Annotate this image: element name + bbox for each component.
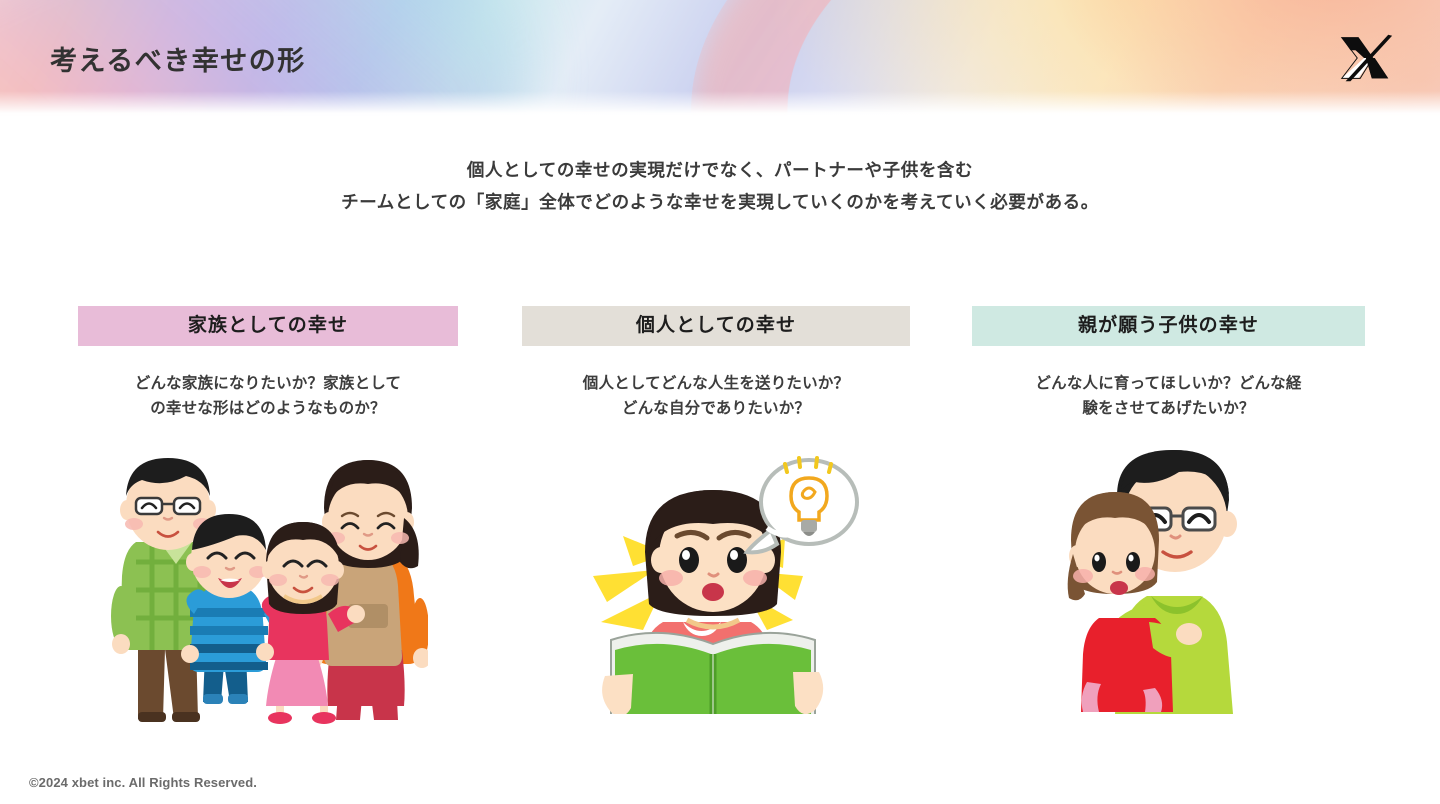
- column-1-desc-line-1: どんな家族になりたいか？家族として: [78, 371, 458, 396]
- slide-root: 考えるべき幸せの形 個人としての幸せの実現だけでなく、パートナーや子供を含む チ…: [0, 0, 1440, 804]
- column-3-desc-line-1: どんな人に育ってほしいか？どんな経: [972, 371, 1365, 396]
- woman-reading-book-with-idea-illustration: [571, 444, 861, 714]
- column-1-description: どんな家族になりたいか？家族として の幸せな形はどのようなものか？: [78, 371, 458, 421]
- header-bottom-fade: [0, 91, 1440, 117]
- column-3-desc-line-2: 験をさせてあげたいか？: [972, 396, 1365, 421]
- column-2-desc-line-2: どんな自分でありたいか？: [522, 396, 910, 421]
- column-parent-wish-happiness: 親が願う子供の幸せ どんな人に育ってほしいか？どんな経 験をさせてあげたいか？: [972, 306, 1365, 421]
- column-3-band-label: 親が願う子供の幸せ: [972, 306, 1365, 346]
- lead-line-2: チームとしての「家庭」全体でどのような幸せを実現していくのかを考えていく必要があ…: [0, 187, 1440, 219]
- column-2-band-label: 個人としての幸せ: [522, 306, 910, 346]
- column-3-illustration-wrap: [972, 444, 1365, 744]
- column-1-desc-line-2: の幸せな形はどのようなものか？: [78, 396, 458, 421]
- father-holding-child-illustration: [1043, 444, 1295, 714]
- column-2-description: 個人としてどんな人生を送りたいか？ どんな自分でありたいか？: [522, 371, 910, 421]
- idea-speech-bubble: [747, 458, 857, 552]
- page-title: 考えるべき幸せの形: [50, 39, 306, 78]
- slide-header: 考えるべき幸せの形: [0, 0, 1440, 117]
- lead-line-1: 個人としての幸せの実現だけでなく、パートナーや子供を含む: [0, 155, 1440, 187]
- happiness-columns: 家族としての幸せ どんな家族になりたいか？家族として の幸せな形はどのようなもの…: [0, 306, 1440, 766]
- family-of-four-illustration: [108, 444, 428, 734]
- column-3-description: どんな人に育ってほしいか？どんな経 験をさせてあげたいか？: [972, 371, 1365, 421]
- column-individual-happiness: 個人としての幸せ 個人としてどんな人生を送りたいか？ どんな自分でありたいか？: [522, 306, 910, 421]
- lead-paragraph: 個人としての幸せの実現だけでなく、パートナーや子供を含む チームとしての「家庭」…: [0, 155, 1440, 219]
- footer-copyright: ©2024 xbet inc. All Rights Reserved.: [29, 775, 257, 790]
- column-family-happiness: 家族としての幸せ どんな家族になりたいか？家族として の幸せな形はどのようなもの…: [78, 306, 458, 421]
- column-1-illustration-wrap: [78, 444, 458, 744]
- xbet-x-logo-icon: [1334, 27, 1396, 89]
- column-1-band-label: 家族としての幸せ: [78, 306, 458, 346]
- column-2-illustration-wrap: [522, 444, 910, 744]
- column-2-desc-line-1: 個人としてどんな人生を送りたいか？: [522, 371, 910, 396]
